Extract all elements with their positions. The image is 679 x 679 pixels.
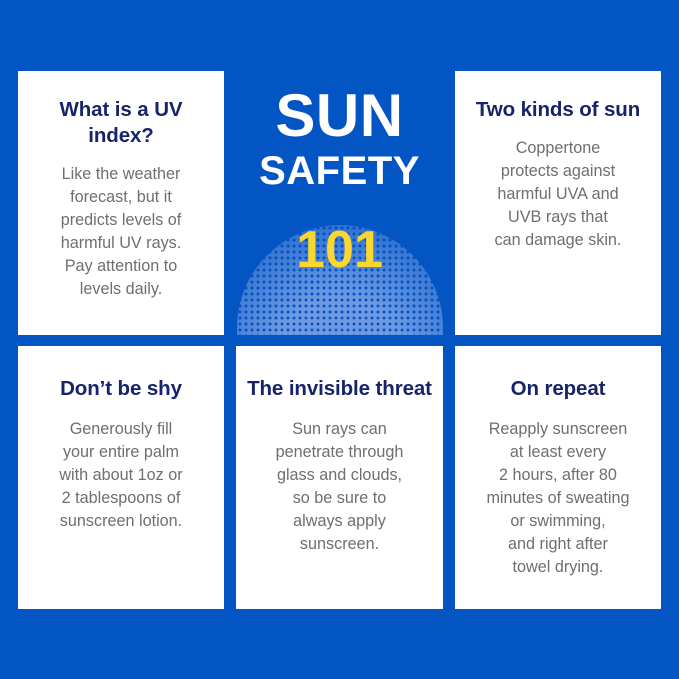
logo-line-101: 101 bbox=[296, 224, 383, 276]
card-invisible-threat: The invisible threat Sun rays can penetr… bbox=[236, 346, 443, 609]
logo-line-safety: SAFETY bbox=[259, 148, 420, 194]
card-title: The invisible threat bbox=[247, 376, 432, 402]
card-body: Sun rays can penetrate through glass and… bbox=[276, 418, 404, 556]
logo-text-stack: SUN SAFETY 101 bbox=[236, 87, 443, 276]
card-dont-be-shy: Don’t be shy Generously fill your entire… bbox=[18, 346, 224, 609]
card-grid: What is a UV index? Like the weather for… bbox=[18, 71, 661, 609]
card-uv-index: What is a UV index? Like the weather for… bbox=[18, 71, 224, 335]
card-title: Two kinds of sun bbox=[476, 97, 640, 123]
card-on-repeat: On repeat Reapply sunscreen at least eve… bbox=[455, 346, 661, 609]
card-title: On repeat bbox=[511, 376, 606, 402]
sun-safety-infographic: What is a UV index? Like the weather for… bbox=[0, 0, 679, 679]
card-title: Don’t be shy bbox=[60, 376, 182, 402]
card-body: Coppertone protects against harmful UVA … bbox=[495, 137, 622, 252]
card-body: Generously fill your entire palm with ab… bbox=[59, 418, 182, 533]
card-body: Like the weather forecast, but it predic… bbox=[61, 163, 182, 301]
card-two-kinds-of-sun: Two kinds of sun Coppertone protects aga… bbox=[455, 71, 661, 335]
sun-safety-logo-panel: SUN SAFETY 101 bbox=[236, 71, 443, 335]
logo-line-sun: SUN bbox=[275, 87, 403, 146]
card-title: What is a UV index? bbox=[29, 97, 214, 149]
card-body: Reapply sunscreen at least every 2 hours… bbox=[486, 418, 629, 579]
